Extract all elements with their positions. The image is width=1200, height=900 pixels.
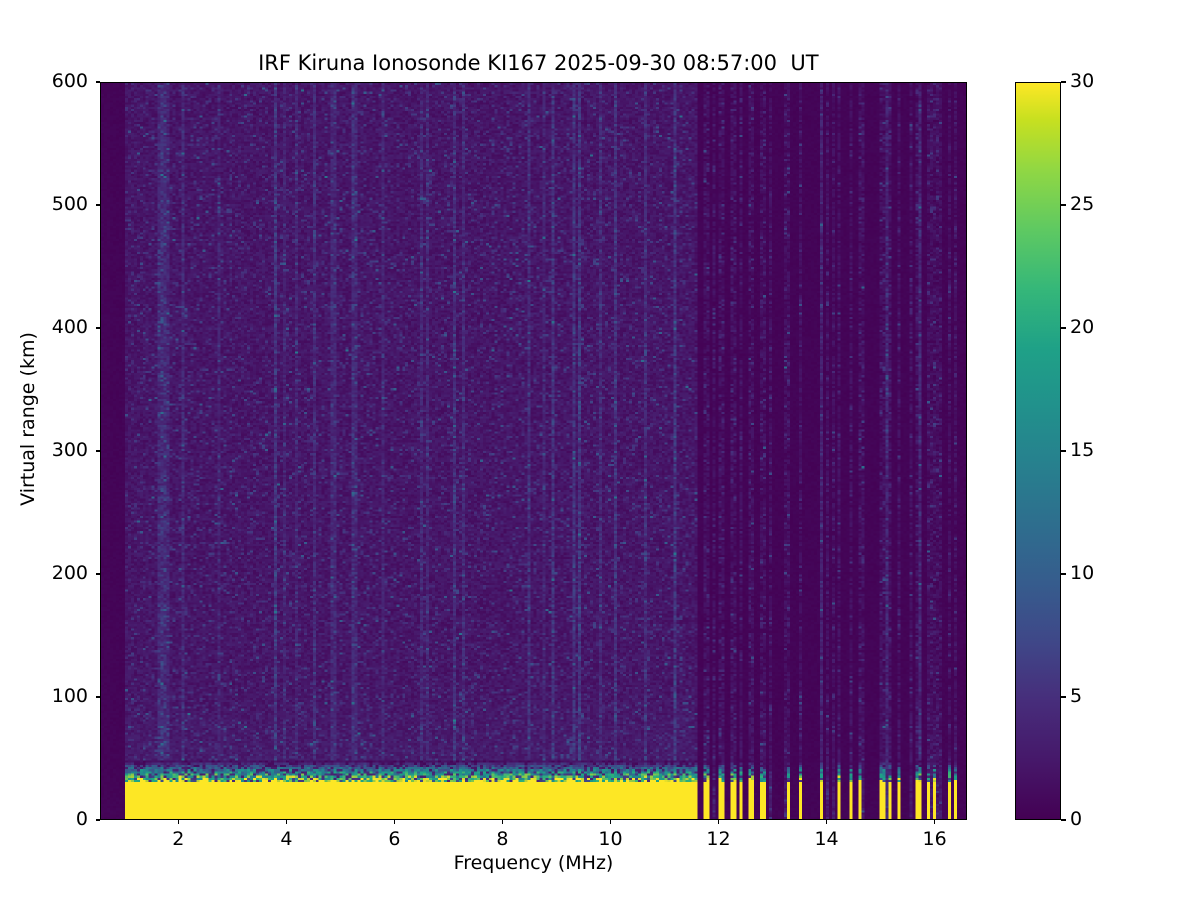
title-line-1: IRF Kiruna Ionosonde KI167 2025-09-30 08…	[258, 51, 818, 75]
colorbar-tick-label: 0	[1070, 808, 1120, 830]
x-tick-label: 6	[364, 828, 424, 850]
x-tick	[610, 820, 611, 824]
x-tick	[718, 820, 719, 824]
x-tick-label: 4	[256, 828, 316, 850]
y-axis-label: Virtual range (km)	[17, 299, 39, 539]
y-tick-label: 600	[28, 70, 88, 92]
ionogram-axes	[100, 82, 967, 820]
x-tick-label: 2	[148, 828, 208, 850]
x-tick-label: 10	[580, 828, 640, 850]
y-tick	[96, 819, 100, 820]
colorbar-tick-label: 30	[1070, 70, 1120, 92]
colorbar	[1015, 82, 1061, 820]
x-tick-label: 16	[905, 828, 965, 850]
ionogram-figure: IRF Kiruna Ionosonde KI167 2025-09-30 08…	[0, 0, 1200, 900]
colorbar-tick	[1061, 450, 1066, 451]
x-tick	[286, 820, 287, 824]
heatmap-canvas	[101, 83, 966, 819]
y-tick	[96, 450, 100, 451]
y-tick-label: 100	[28, 685, 88, 707]
y-tick	[96, 696, 100, 697]
colorbar-tick-label: 5	[1070, 685, 1120, 707]
colorbar-tick	[1061, 696, 1066, 697]
x-tick-label: 14	[797, 828, 857, 850]
y-tick-label: 200	[28, 562, 88, 584]
colorbar-tick-label: 20	[1070, 316, 1120, 338]
colorbar-tick-label: 25	[1070, 193, 1120, 215]
colorbar-tick-label: 15	[1070, 439, 1120, 461]
y-tick	[96, 204, 100, 205]
y-tick-label: 500	[28, 193, 88, 215]
ionogram-heatmap	[101, 83, 966, 819]
x-tick-label: 12	[689, 828, 749, 850]
x-tick	[934, 820, 935, 824]
x-axis-label: Frequency (MHz)	[100, 852, 967, 874]
colorbar-tick	[1061, 204, 1066, 205]
y-tick-label: 0	[28, 808, 88, 830]
colorbar-tick	[1061, 573, 1066, 574]
colorbar-tick-label: 10	[1070, 562, 1120, 584]
colorbar-tick	[1061, 81, 1066, 82]
x-tick	[502, 820, 503, 824]
colorbar-tick	[1061, 327, 1066, 328]
y-tick	[96, 327, 100, 328]
y-tick	[96, 81, 100, 82]
x-tick	[394, 820, 395, 824]
x-tick	[178, 820, 179, 824]
y-tick	[96, 573, 100, 574]
x-tick	[826, 820, 827, 824]
x-tick-label: 8	[472, 828, 532, 850]
colorbar-tick	[1061, 819, 1066, 820]
